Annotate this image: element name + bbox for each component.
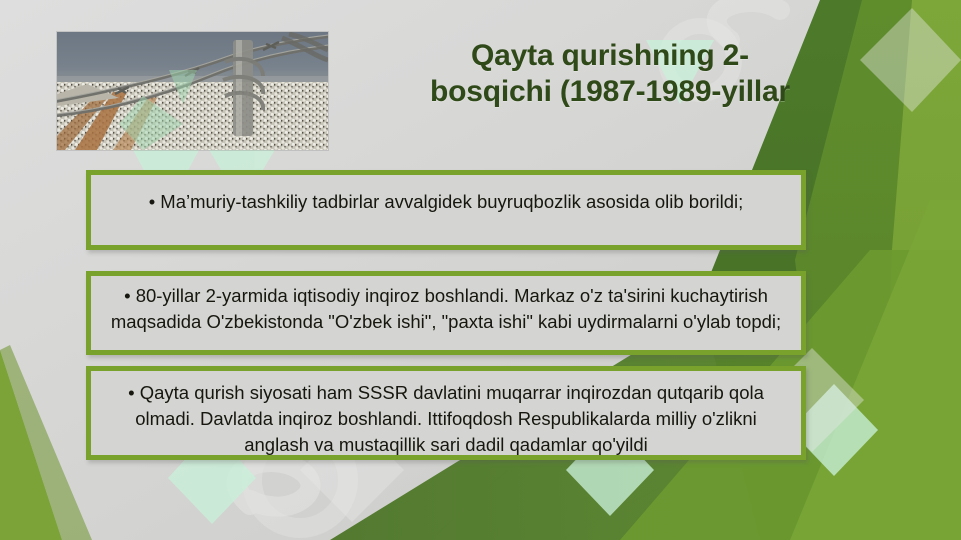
bullet-box-1: • Ma’muriy-tashkiliy tadbirlar avvalgide… <box>86 170 806 250</box>
bullet-box-3: • Qayta qurish siyosati ham SSSR davlati… <box>86 366 806 460</box>
slide-title: Qayta qurishning 2- bosqichi (1987-1989-… <box>330 38 890 110</box>
bullet-text-2: • 80-yillar 2-yarmida iqtisodiy inqiroz … <box>103 283 789 335</box>
bullet-box-2: • 80-yillar 2-yarmida iqtisodiy inqiroz … <box>86 271 806 355</box>
bullet-box-1-content: • Ma’muriy-tashkiliy tadbirlar avvalgide… <box>91 175 801 221</box>
bullet-box-2-content: • 80-yillar 2-yarmida iqtisodiy inqiroz … <box>91 276 801 341</box>
bullet-box-3-content: • Qayta qurish siyosati ham SSSR davlati… <box>91 371 801 464</box>
slide-canvas: Qayta qurishning 2- bosqichi (1987-1989-… <box>0 0 961 540</box>
bullet-text-3: • Qayta qurish siyosati ham SSSR davlati… <box>103 380 789 458</box>
cotton-field-barbed-wire-image <box>57 32 328 150</box>
bullet-text-1: • Ma’muriy-tashkiliy tadbirlar avvalgide… <box>103 189 789 215</box>
